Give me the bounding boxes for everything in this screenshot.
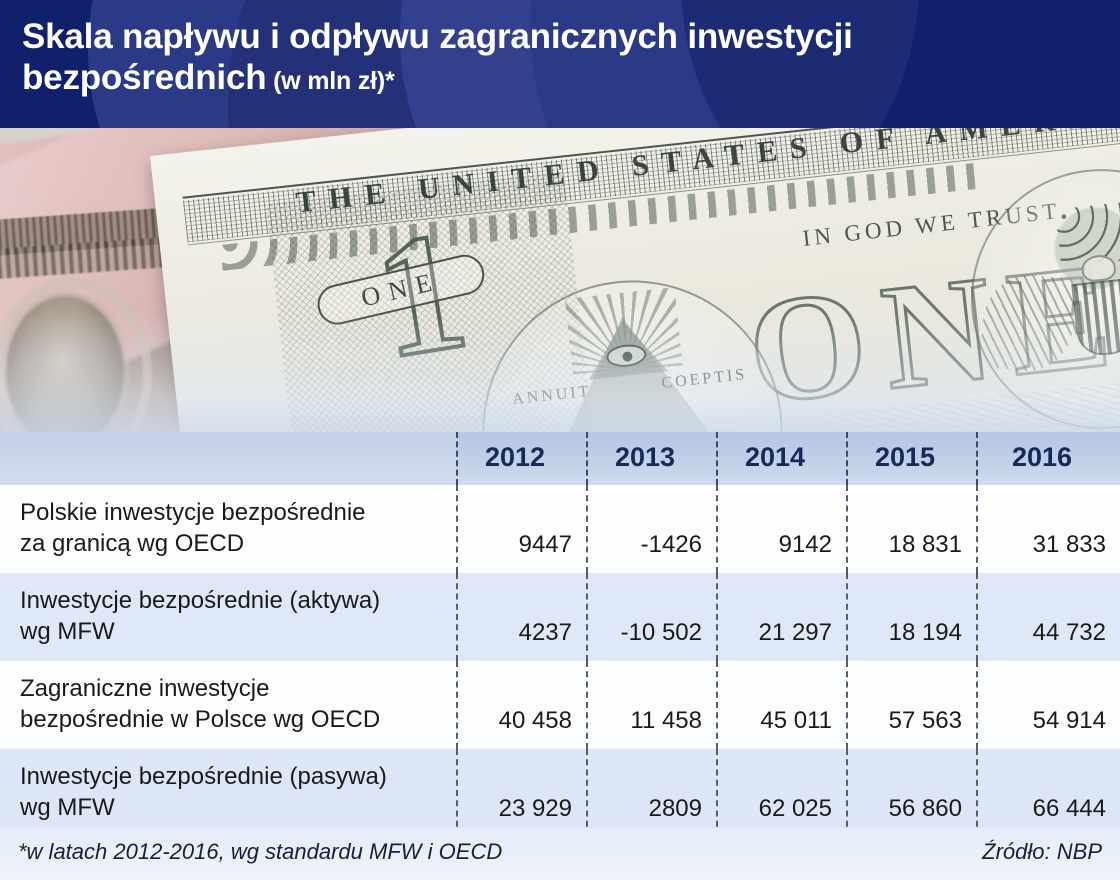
cell-2012: 4237 — [457, 573, 587, 661]
cell-2012: 40 458 — [457, 661, 587, 749]
footnote-text: *w latach 2012-2016, wg standardu MFW i … — [18, 839, 502, 865]
column-header-2013: 2013 — [587, 432, 717, 485]
eagle-shield-icon — [1071, 278, 1120, 358]
row-label: Inwestycje bezpośrednie (aktywa) wg MFW — [0, 573, 457, 661]
cell-2013: 11 458 — [587, 661, 717, 749]
header-banner: Skala napływu i odpływu zagranicznych in… — [0, 0, 1120, 128]
cell-2015: 56 860 — [847, 749, 977, 837]
page-title: Skala napływu i odpływu zagranicznych in… — [22, 16, 1092, 99]
cell-2015: 18 831 — [847, 485, 977, 573]
cell-2014: 21 297 — [717, 573, 847, 661]
title-line-2-main: bezpośrednich — [22, 58, 266, 97]
row-label: Inwestycje bezpośrednie (pasywa) wg MFW — [0, 749, 457, 837]
row-label-line-1: Zagraniczne inwestycje — [20, 674, 446, 705]
one-dollar-bill: THE UNITED STATES OF AMERICA 1 ONE IN GO… — [150, 128, 1120, 436]
row-label: Polskie inwestycje bezpośrednie za grani… — [0, 485, 457, 573]
cell-2012: 9447 — [457, 485, 587, 573]
washington-portrait — [6, 296, 124, 436]
column-header-2014: 2014 — [717, 432, 847, 485]
row-label-line-1: Polskie inwestycje bezpośrednie — [20, 498, 446, 529]
table-row: Inwestycje bezpośrednie (pasywa) wg MFW … — [0, 749, 1120, 837]
title-unit-note: (w mln zł)* — [266, 67, 394, 95]
eagle-wing-left — [979, 271, 1078, 376]
column-header-2016: 2016 — [977, 432, 1120, 485]
cell-2015: 57 563 — [847, 661, 977, 749]
table-header-row: 2012 2013 2014 2015 2016 — [0, 432, 1120, 485]
column-header-2015: 2015 — [847, 432, 977, 485]
footnote-bar: *w latach 2012-2016, wg standardu MFW i … — [0, 828, 1120, 880]
row-label-line-1: Inwestycje bezpośrednie (aktywa) — [20, 586, 446, 617]
cell-2016: 44 732 — [977, 573, 1120, 661]
title-line-1: Skala napływu i odpływu zagranicznych in… — [22, 16, 1092, 57]
cell-2013: -1426 — [587, 485, 717, 573]
row-label-line-2: bezpośrednie w Polsce wg OECD — [20, 705, 446, 736]
cell-2016: 54 914 — [977, 661, 1120, 749]
table-row: Zagraniczne inwestycje bezpośrednie w Po… — [0, 661, 1120, 749]
table-row: Polskie inwestycje bezpośrednie za grani… — [0, 485, 1120, 573]
column-header-label — [0, 432, 457, 485]
table-body: Polskie inwestycje bezpośrednie za grani… — [0, 485, 1120, 837]
fdi-data-table: 2012 2013 2014 2015 2016 Polskie inwesty… — [0, 432, 1120, 837]
table-row: Inwestycje bezpośrednie (aktywa) wg MFW … — [0, 573, 1120, 661]
row-label-line-2: za granicą wg OECD — [20, 529, 446, 560]
cell-2014: 62 025 — [717, 749, 847, 837]
cell-2016: 31 833 — [977, 485, 1120, 573]
table-head: 2012 2013 2014 2015 2016 — [0, 432, 1120, 485]
row-label-line-2: wg MFW — [20, 617, 446, 648]
cell-2013: 2809 — [587, 749, 717, 837]
infographic-root: Skala napływu i odpływu zagranicznych in… — [0, 0, 1120, 880]
cell-2015: 18 194 — [847, 573, 977, 661]
row-label-line-1: Inwestycje bezpośrednie (pasywa) — [20, 762, 446, 793]
column-header-2012: 2012 — [457, 432, 587, 485]
row-label: Zagraniczne inwestycje bezpośrednie w Po… — [0, 661, 457, 749]
cell-2014: 9142 — [717, 485, 847, 573]
cell-2016: 66 444 — [977, 749, 1120, 837]
row-label-line-2: wg MFW — [20, 793, 446, 824]
cell-2013: -10 502 — [587, 573, 717, 661]
source-text: Źródło: NBP — [982, 839, 1102, 865]
cell-2012: 23 929 — [457, 749, 587, 837]
cell-2014: 45 011 — [717, 661, 847, 749]
title-line-2: bezpośrednich (w mln zł)* — [22, 57, 1092, 98]
data-table-container: 2012 2013 2014 2015 2016 Polskie inwesty… — [0, 432, 1120, 880]
banknote-photo: THE UNITED STATES OF AMERICA 1 ONE IN GO… — [0, 128, 1120, 436]
